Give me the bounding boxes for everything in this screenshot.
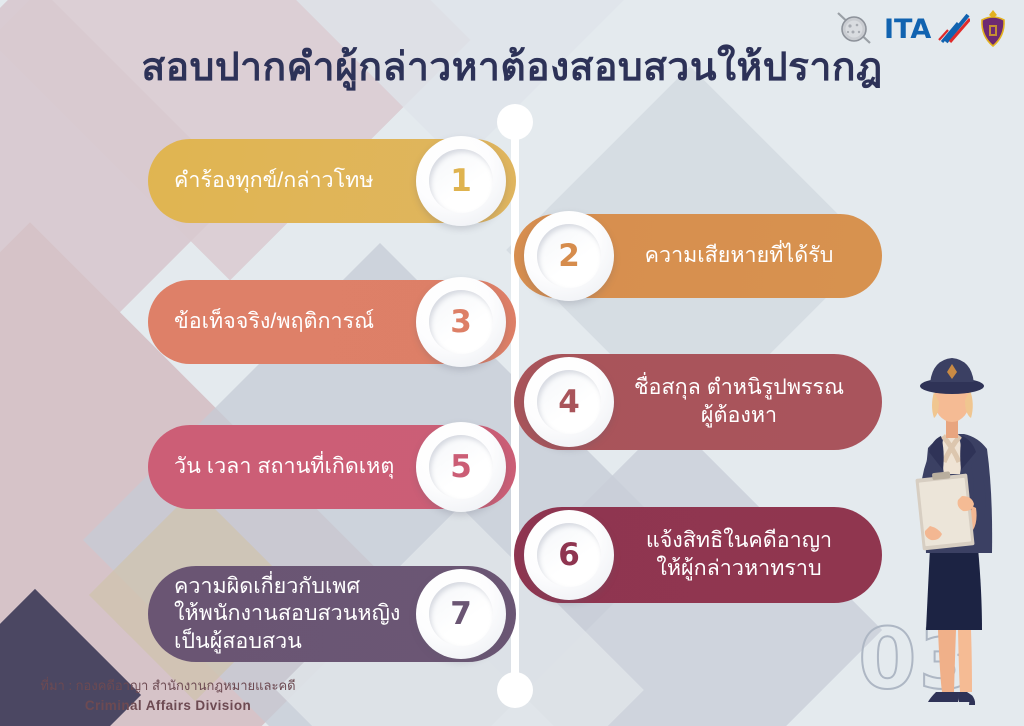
step-label-line: ความผิดเกี่ยวกับเพศ — [174, 573, 408, 601]
step-label-1: คำร้องทุกข์/กล่าวโทษ — [174, 167, 408, 195]
step-number-6: 6 — [558, 537, 580, 573]
logo-group: ITA — [832, 8, 1008, 50]
step-label-line: เป็นผู้สอบสวน — [174, 628, 408, 656]
step-label-line: แจ้งสิทธิในคดีอาญา — [622, 527, 856, 555]
step-pill-4[interactable]: ชื่อสกุล ตำหนิรูปพรรณผู้ต้องหา4 — [514, 354, 882, 450]
step-pill-1[interactable]: คำร้องทุกข์/กล่าวโทษ1 — [148, 139, 516, 223]
step-label-2: ความเสียหายที่ได้รับ — [622, 242, 856, 270]
step-number-badge-2: 2 — [524, 211, 614, 301]
step-number-badge-3: 3 — [416, 277, 506, 367]
step-number-badge-1: 1 — [416, 136, 506, 226]
step-number-7: 7 — [450, 596, 472, 632]
step-number-2: 2 — [558, 238, 580, 274]
step-label-3: ข้อเท็จจริง/พฤติการณ์ — [174, 308, 408, 336]
step-pill-3[interactable]: ข้อเท็จจริง/พฤติการณ์3 — [148, 280, 516, 364]
step-label-line: ชื่อสกุล ตำหนิรูปพรรณ — [622, 374, 856, 402]
step-number-badge-6: 6 — [524, 510, 614, 600]
step-label-line: คำร้องทุกข์/กล่าวโทษ — [174, 167, 408, 195]
step-number-badge-7: 7 — [416, 569, 506, 659]
step-label-line: ข้อเท็จจริง/พฤติการณ์ — [174, 308, 408, 336]
infographic-canvas: ITA สอบปากคำผู้กล่าวหาต้องสอบสวนให้ปรากฎ… — [0, 0, 1024, 726]
step-label-line: ให้พนักงานสอบสวนหญิง — [174, 600, 408, 628]
step-label-4: ชื่อสกุล ตำหนิรูปพรรณผู้ต้องหา — [622, 374, 856, 429]
footer-line-thai: ที่มา : กองคดีอาญา สำนักงานกฎหมายและคดี — [8, 676, 328, 696]
timeline-dot-bottom — [497, 672, 533, 708]
step-pill-6[interactable]: แจ้งสิทธิในคดีอาญาให้ผู้กล่าวหาทราบ6 — [514, 507, 882, 603]
step-label-line: วัน เวลา สถานที่เกิดเหตุ — [174, 453, 408, 481]
female-police-officer-illustration — [886, 330, 1016, 708]
garuda-emblem-icon — [978, 8, 1008, 50]
page-title: สอบปากคำผู้กล่าวหาต้องสอบสวนให้ปรากฎ — [0, 46, 1024, 91]
step-number-3: 3 — [450, 304, 472, 340]
step-pill-2[interactable]: ความเสียหายที่ได้รับ2 — [514, 214, 882, 298]
step-number-4: 4 — [558, 384, 580, 420]
timeline-dot-top — [497, 104, 533, 140]
step-label-line: ผู้ต้องหา — [622, 402, 856, 430]
step-label-6: แจ้งสิทธิในคดีอาญาให้ผู้กล่าวหาทราบ — [622, 527, 856, 582]
step-label-7: ความผิดเกี่ยวกับเพศให้พนักงานสอบสวนหญิงเ… — [174, 573, 408, 656]
step-number-5: 5 — [450, 449, 472, 485]
step-pill-7[interactable]: ความผิดเกี่ยวกับเพศให้พนักงานสอบสวนหญิงเ… — [148, 566, 516, 662]
svg-text:ITA: ITA — [884, 14, 931, 45]
step-pill-5[interactable]: วัน เวลา สถานที่เกิดเหตุ5 — [148, 425, 516, 509]
source-footer: ที่มา : กองคดีอาญา สำนักงานกฎหมายและคดี … — [8, 676, 328, 716]
step-label-5: วัน เวลา สถานที่เกิดเหตุ — [174, 453, 408, 481]
step-number-badge-5: 5 — [416, 422, 506, 512]
step-number-1: 1 — [450, 163, 472, 199]
royal-thai-police-seal-icon — [832, 9, 876, 49]
step-number-badge-4: 4 — [524, 357, 614, 447]
ita-logo: ITA — [884, 9, 970, 49]
step-label-line: ให้ผู้กล่าวหาทราบ — [622, 555, 856, 583]
step-label-line: ความเสียหายที่ได้รับ — [622, 242, 856, 270]
footer-line-english: Criminal Affairs Division — [8, 696, 328, 716]
